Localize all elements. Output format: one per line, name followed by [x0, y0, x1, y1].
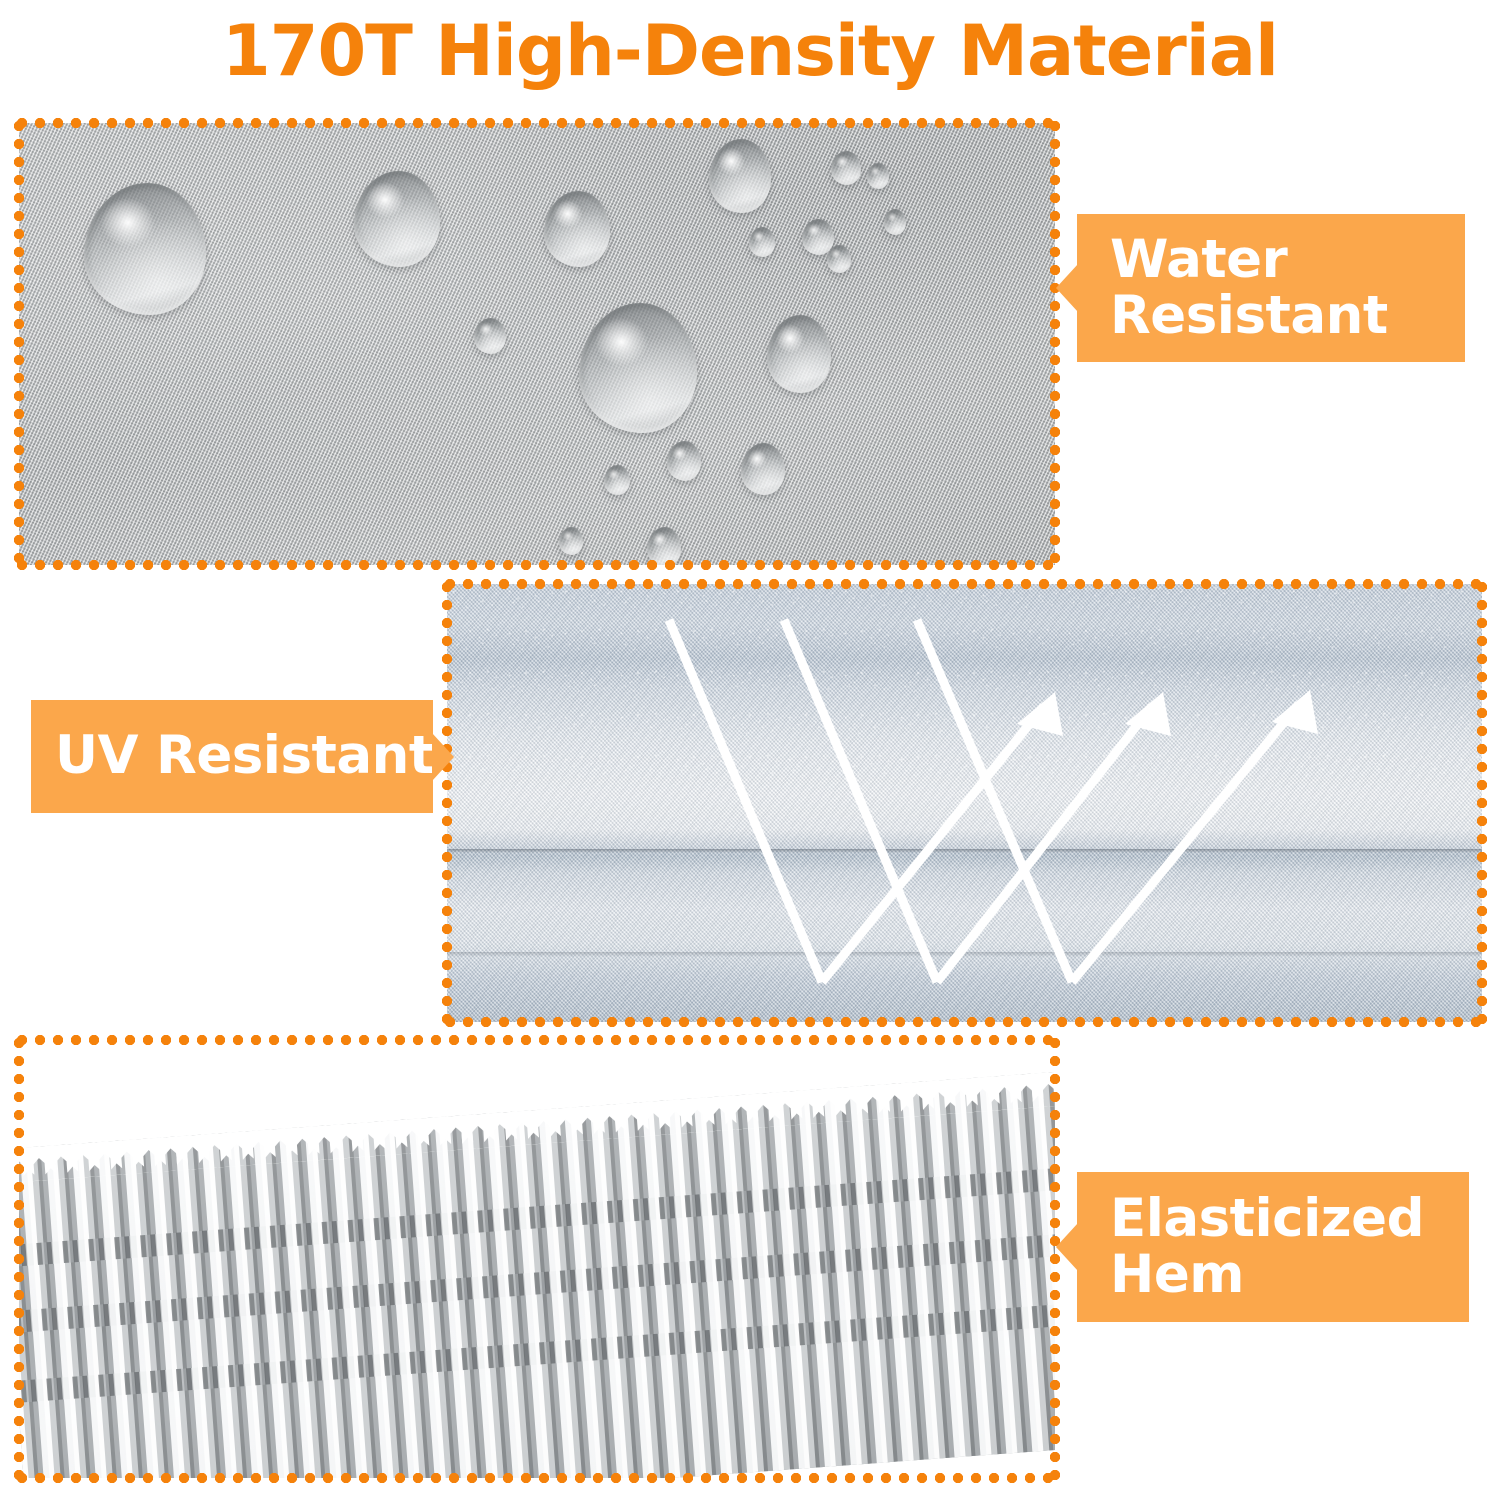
- uv-resistant-photo: [447, 584, 1482, 1022]
- water-droplet: [604, 465, 630, 495]
- callout-pointer-icon: [1056, 1223, 1078, 1271]
- fabric-fold-line: [447, 849, 1482, 853]
- water-droplet: [354, 171, 440, 267]
- woven-fabric-texture: [19, 123, 1055, 565]
- water-droplet: [559, 527, 583, 555]
- water-resistant-photo: [19, 123, 1055, 565]
- callout-line: Elasticized: [1110, 1191, 1469, 1247]
- callout-line: Hem: [1110, 1247, 1469, 1303]
- sparkle-highlights: [447, 584, 1482, 785]
- water-droplet: [767, 315, 831, 393]
- water-droplet: [474, 318, 506, 354]
- callout-line: Resistant: [1110, 288, 1465, 344]
- water-droplet: [884, 209, 906, 235]
- callout-pointer-icon: [1056, 264, 1078, 312]
- water-droplet: [709, 139, 771, 213]
- uv-fabric-image: [447, 584, 1482, 1022]
- hem-fabric-image: [19, 1040, 1055, 1478]
- callout-line: UV Resistant: [55, 728, 433, 784]
- page-title: 170T High-Density Material: [0, 10, 1500, 92]
- water-droplet: [749, 227, 775, 257]
- water-droplet: [827, 245, 851, 273]
- water-droplet: [544, 191, 610, 267]
- water-droplet: [579, 303, 697, 433]
- callout-elasticized-hem: Elasticized Hem: [1077, 1172, 1469, 1322]
- infographic-canvas: 170T High-Density Material: [0, 0, 1500, 1500]
- callout-water-resistant: Water Resistant: [1077, 214, 1465, 362]
- water-droplet: [667, 441, 701, 481]
- water-droplet: [831, 151, 861, 185]
- water-droplet: [647, 527, 681, 565]
- callout-pointer-icon: [432, 733, 454, 781]
- fabric-fold-line: [447, 952, 1482, 957]
- callout-line: Water: [1110, 232, 1465, 288]
- elasticized-hem-photo: [19, 1040, 1055, 1478]
- water-droplet: [741, 443, 785, 495]
- water-fabric-image: [19, 123, 1055, 565]
- water-droplet: [867, 163, 889, 189]
- callout-uv-resistant: UV Resistant: [31, 700, 433, 813]
